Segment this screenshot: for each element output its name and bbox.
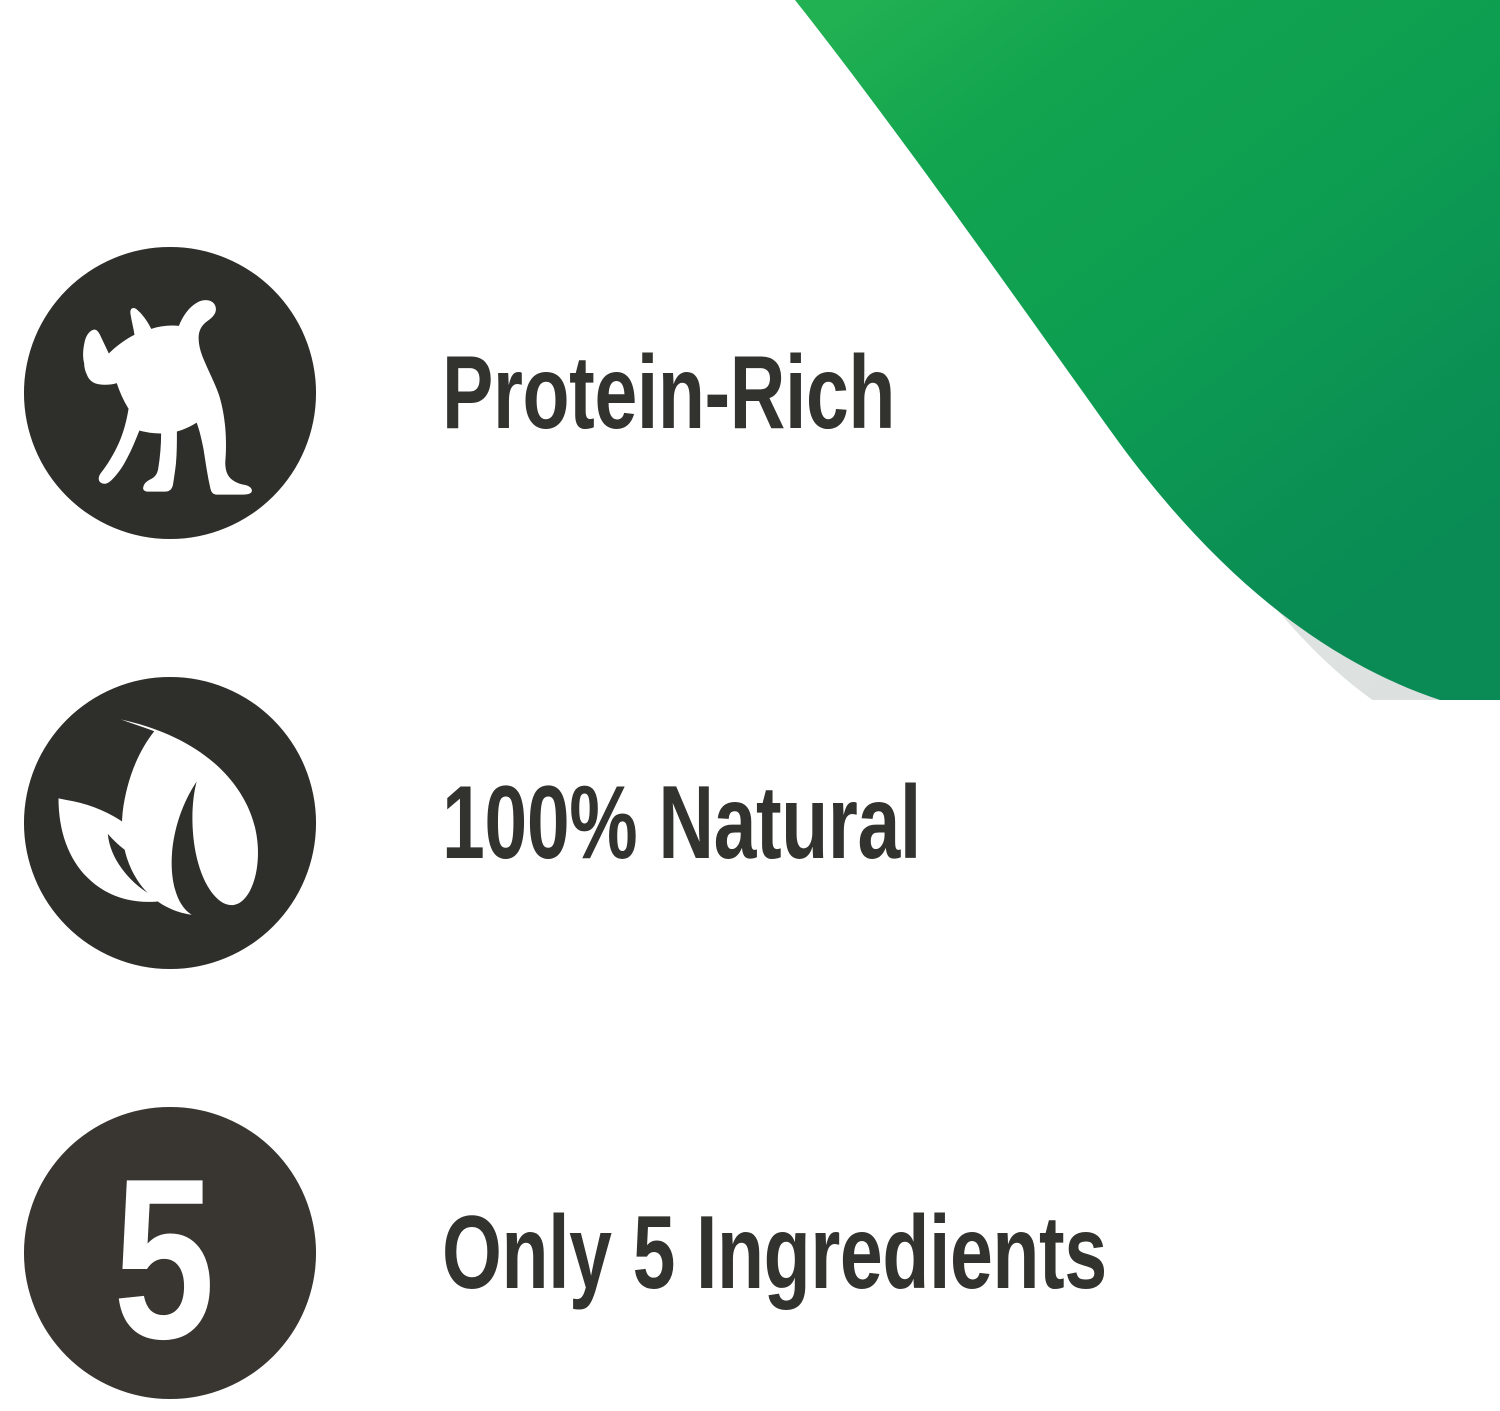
feature-badge-ingredients: 5	[22, 1102, 318, 1404]
feature-label: Only 5 Ingredients	[442, 1201, 1107, 1305]
feature-label: Protein-Rich	[442, 341, 895, 445]
feature-row: 100% Natural	[0, 668, 1500, 978]
feature-badge-protein-rich	[22, 242, 318, 544]
product-feature-panel: Protein-Rich 100% Natural 5 Only 5 Ingre…	[0, 0, 1500, 1411]
feature-row: Protein-Rich	[0, 238, 1500, 548]
cat-silhouette-icon	[22, 242, 318, 544]
number-five-icon: 5	[22, 1102, 318, 1404]
feature-label: 100% Natural	[442, 771, 921, 875]
feature-badge-natural	[22, 672, 318, 974]
feature-row: 5 Only 5 Ingredients	[0, 1098, 1500, 1408]
leaf-pair-icon	[22, 672, 318, 974]
badge-number: 5	[113, 1130, 215, 1386]
